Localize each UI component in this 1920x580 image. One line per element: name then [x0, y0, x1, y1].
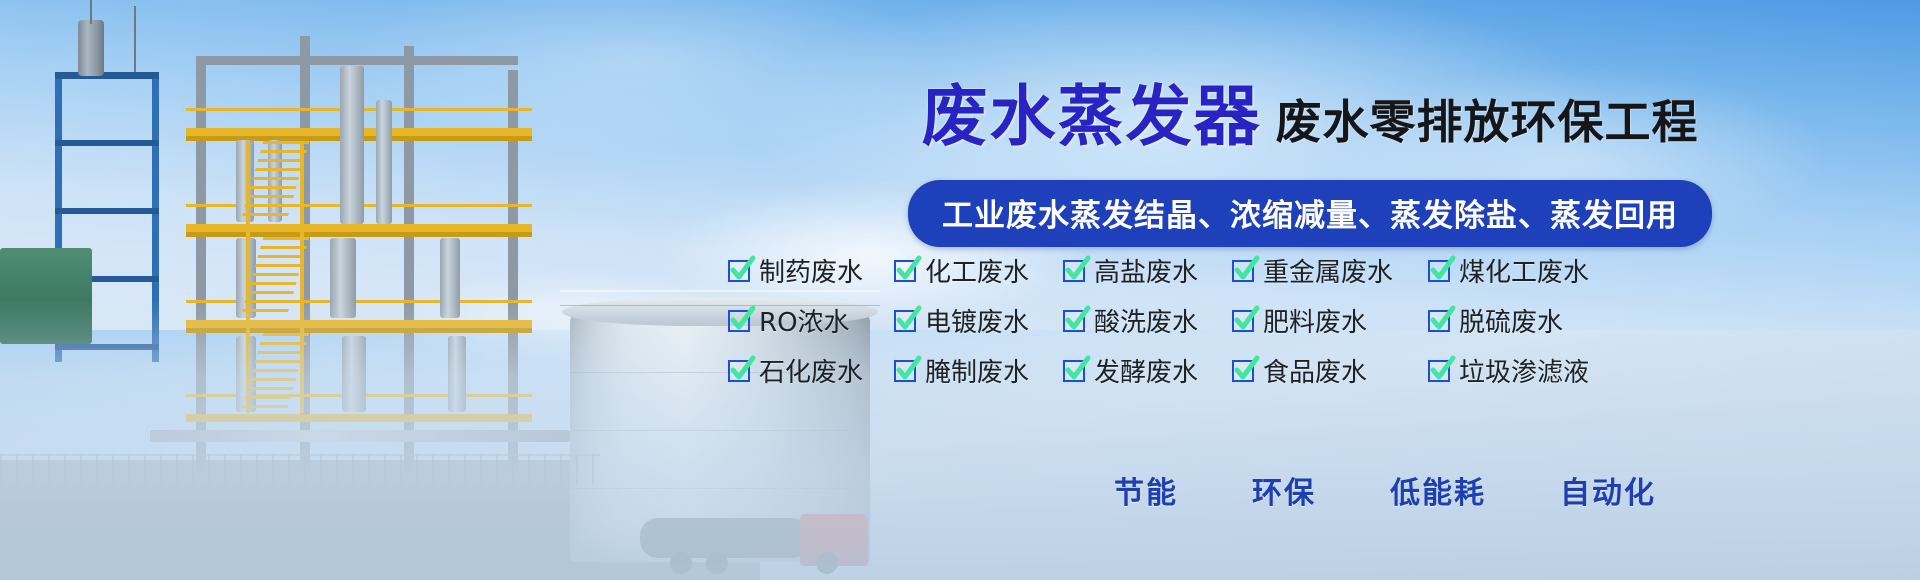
check-icon[interactable]: [728, 360, 750, 382]
check-icon[interactable]: [1428, 260, 1450, 282]
frame-beam: [55, 208, 159, 214]
check-icon[interactable]: [894, 360, 916, 382]
waste-type-row: 制药废水化工废水高盐废水重金属废水煤化工废水: [728, 252, 1920, 289]
check-icon[interactable]: [1232, 260, 1254, 282]
keyword-item: 节能: [1114, 468, 1178, 512]
tagline-row: 工业废水蒸发结晶、浓缩减量、蒸发除盐、蒸发回用: [700, 180, 1920, 247]
distillation-column: [78, 20, 104, 76]
frame-beam: [55, 72, 159, 79]
waste-type-label: 化工废水: [925, 252, 1029, 289]
waste-type-item[interactable]: 腌制废水: [894, 352, 1037, 389]
check-icon[interactable]: [1063, 360, 1085, 382]
process-pipe: [376, 100, 392, 224]
check-icon[interactable]: [894, 260, 916, 282]
waste-type-label: 垃圾渗滤液: [1459, 352, 1589, 389]
waste-type-item[interactable]: 重金属废水: [1232, 252, 1402, 289]
check-icon[interactable]: [894, 310, 916, 332]
waste-type-label: 重金属废水: [1263, 252, 1393, 289]
waste-type-label: 石化废水: [759, 352, 863, 389]
keyword-item: 低能耗: [1390, 468, 1486, 512]
waste-type-item[interactable]: 电镀废水: [894, 302, 1037, 339]
waste-type-item[interactable]: 肥料废水: [1232, 302, 1402, 339]
waste-type-item[interactable]: 石化废水: [728, 352, 868, 389]
check-icon[interactable]: [728, 310, 750, 332]
keyword-item: 环保: [1252, 468, 1316, 512]
headline-row: 废水蒸发器 废水零排放环保工程: [700, 84, 1920, 150]
promo-banner: 废水蒸发器 废水零排放环保工程 工业废水蒸发结晶、浓缩减量、蒸发除盐、蒸发回用 …: [0, 0, 1920, 580]
waste-type-label: 酸洗废水: [1094, 302, 1198, 339]
waste-type-item[interactable]: 制药废水: [728, 252, 868, 289]
headline-primary: 废水蒸发器: [922, 84, 1262, 150]
waste-type-item[interactable]: 垃圾渗滤液: [1428, 352, 1603, 389]
waste-type-item[interactable]: 高盐废水: [1063, 252, 1206, 289]
waste-type-label: 腌制废水: [925, 352, 1029, 389]
frame-beam: [55, 140, 159, 146]
structure-beam: [196, 56, 518, 65]
keyword-item: 自动化: [1560, 468, 1656, 512]
waste-type-item[interactable]: 发酵废水: [1063, 352, 1206, 389]
check-icon[interactable]: [1063, 260, 1085, 282]
process-vessel: [340, 66, 364, 224]
waste-type-item[interactable]: 煤化工废水: [1428, 252, 1603, 289]
waste-type-label: 脱硫废水: [1459, 302, 1563, 339]
waste-type-item[interactable]: 酸洗废水: [1063, 302, 1206, 339]
waste-type-label: 制药废水: [759, 252, 863, 289]
waste-type-label: RO浓水: [759, 302, 850, 339]
platform-edge: [186, 232, 532, 237]
waste-type-row: 石化废水腌制废水发酵废水食品废水垃圾渗滤液: [728, 352, 1920, 389]
waste-type-label: 食品废水: [1263, 352, 1367, 389]
waste-type-item[interactable]: RO浓水: [728, 302, 868, 339]
check-icon[interactable]: [1232, 310, 1254, 332]
headline-secondary: 废水零排放环保工程: [1276, 99, 1699, 150]
waste-type-row: RO浓水电镀废水酸洗废水肥料废水脱硫废水: [728, 302, 1920, 339]
check-icon[interactable]: [728, 260, 750, 282]
check-icon[interactable]: [1063, 310, 1085, 332]
check-icon[interactable]: [1428, 360, 1450, 382]
waste-type-item[interactable]: 食品废水: [1232, 352, 1402, 389]
tagline-pill: 工业废水蒸发结晶、浓缩减量、蒸发除盐、蒸发回用: [908, 180, 1712, 247]
check-icon[interactable]: [1428, 310, 1450, 332]
waste-type-grid: 制药废水化工废水高盐废水重金属废水煤化工废水RO浓水电镀废水酸洗废水肥料废水脱硫…: [700, 252, 1920, 389]
keyword-row: 节能环保低能耗自动化: [700, 468, 1920, 512]
waste-type-item[interactable]: 化工废水: [894, 252, 1037, 289]
waste-type-label: 煤化工废水: [1459, 252, 1589, 289]
waste-type-label: 高盐废水: [1094, 252, 1198, 289]
check-icon[interactable]: [1232, 360, 1254, 382]
waste-type-item[interactable]: 脱硫废水: [1428, 302, 1603, 339]
waste-type-label: 肥料废水: [1263, 302, 1367, 339]
waste-type-label: 发酵废水: [1094, 352, 1198, 389]
platform-deck: [186, 224, 532, 232]
banner-content: 废水蒸发器 废水零排放环保工程 工业废水蒸发结晶、浓缩减量、蒸发除盐、蒸发回用 …: [700, 0, 1920, 580]
waste-type-label: 电镀废水: [925, 302, 1029, 339]
